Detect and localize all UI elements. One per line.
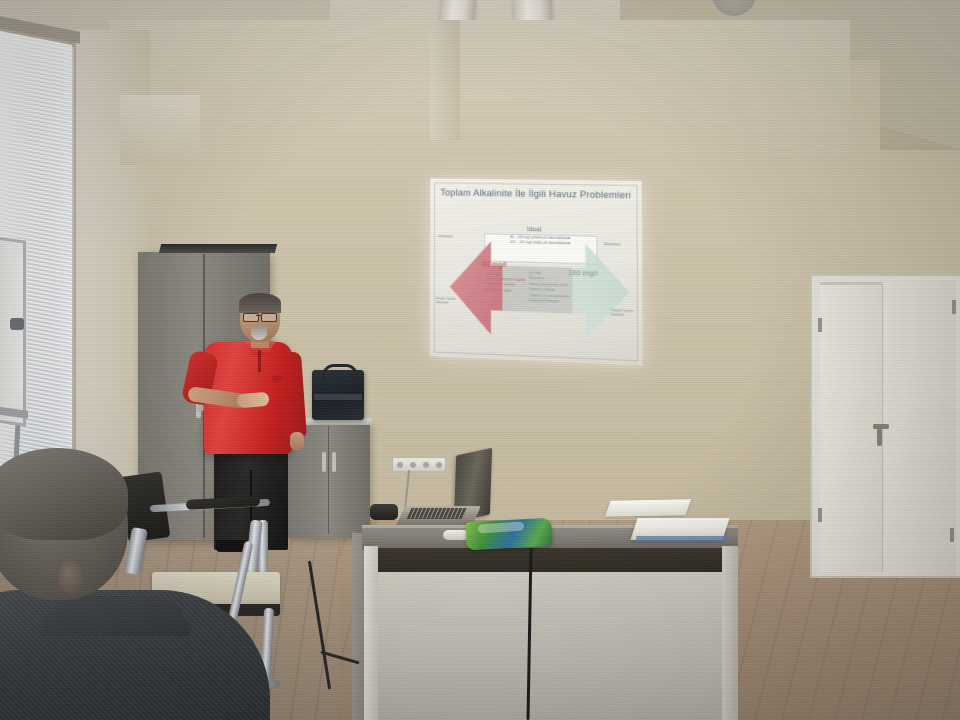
low-cabinet-handle-icon[interactable] <box>332 452 336 472</box>
paper-stack-edge <box>635 536 727 541</box>
glasses-bridge-icon <box>256 315 262 316</box>
outlet-socket-icon <box>397 462 403 468</box>
outlet-socket-icon <box>423 462 429 468</box>
door-hinge-icon <box>952 300 956 314</box>
desk-leg-left <box>364 546 378 720</box>
door-hinge-icon <box>950 528 954 542</box>
desk-front-panel <box>376 572 724 720</box>
glasses-icon <box>261 313 277 322</box>
low-cabinet-handle-icon[interactable] <box>322 452 326 472</box>
presenter-right-hand <box>290 432 304 450</box>
whiteboard-clip-icon[interactable] <box>10 318 24 330</box>
laptop-keyboard[interactable] <box>407 508 468 519</box>
wall-column <box>430 20 460 140</box>
laptop-bag-handle-icon[interactable] <box>322 364 358 381</box>
door-handle-stem <box>877 424 882 446</box>
desk-leg-right <box>722 546 738 720</box>
wall-soffit <box>120 95 200 165</box>
power-outlet[interactable] <box>392 457 446 472</box>
presenter-placket <box>258 350 261 372</box>
wardrobe-top <box>159 244 277 253</box>
presenter-hair <box>239 293 281 313</box>
attendee-collar <box>40 596 190 636</box>
projected-slide: Toplam Alkalinite İle İlgili Havuz Probl… <box>430 178 643 365</box>
desk-small-device <box>370 504 398 520</box>
door-hinge-icon <box>818 508 822 522</box>
paper-sheet <box>605 499 691 516</box>
slide-min-label: Minimum <box>438 234 453 238</box>
door-hinge-icon <box>818 318 822 332</box>
whiteboard <box>0 235 26 426</box>
slide-right-items: pH KilitliBulanık suHavuz yüzeylerinde p… <box>529 271 598 306</box>
attendee-ear <box>58 560 84 594</box>
slide-high-alkalinity-label: Yüksek Toplam Alkalinite <box>610 308 638 318</box>
door-right-leaf[interactable] <box>884 280 956 576</box>
attendee-hair <box>0 448 128 540</box>
back-wall-upper <box>110 20 850 160</box>
slide-low-alkalinity-label: Düşük Toplam Alkalinite <box>436 296 462 305</box>
outlet-socket-icon <box>436 462 442 468</box>
slide-max-label: Maximum <box>604 242 620 247</box>
wardrobe-lock-icon[interactable] <box>196 404 204 412</box>
presenter-beard <box>251 326 267 340</box>
room-photo-scene: Toplam Alkalinite İle İlgili Havuz Probl… <box>0 0 960 720</box>
laptop-bag-stripe <box>314 394 362 400</box>
door-reveal <box>820 282 882 285</box>
low-cabinet-split <box>328 426 329 534</box>
slide-left-value: 80 mg/l <box>482 261 506 269</box>
slide-ideal-box: 80 – 100 mg/l yüksek pH dezenfektanlar 1… <box>484 233 597 264</box>
outlet-socket-icon <box>410 462 416 468</box>
presenter-pocket-logo <box>272 375 282 383</box>
